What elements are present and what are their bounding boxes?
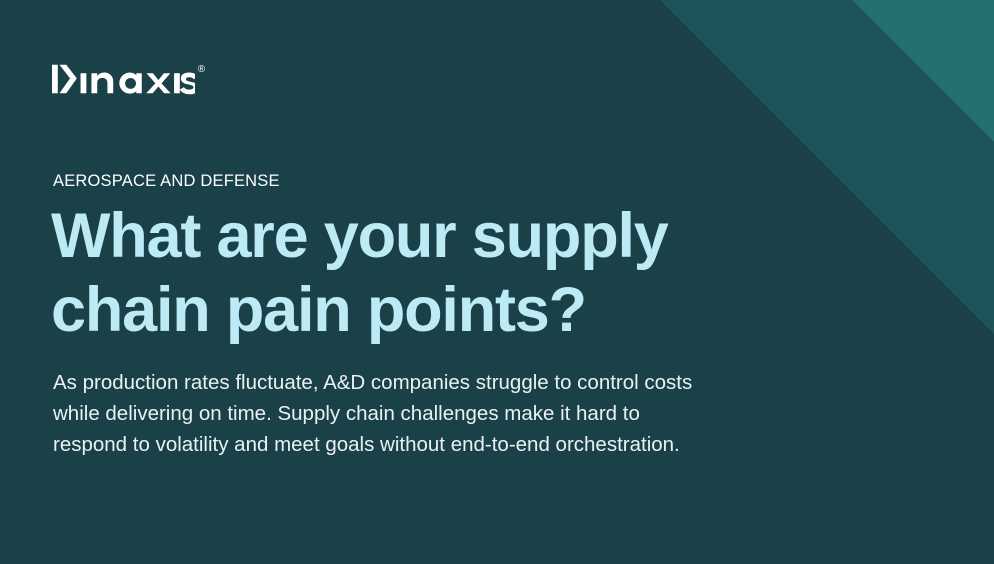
marketing-slide: ® AEROSPACE AND DEFENSE What are your su… <box>0 0 994 564</box>
page-title: What are your supply chain pain points? <box>51 199 731 347</box>
kinaxis-wordmark-logo <box>52 62 195 96</box>
eyebrow-label: AEROSPACE AND DEFENSE <box>53 172 280 191</box>
registered-trademark-icon: ® <box>198 65 205 75</box>
body-paragraph: As production rates fluctuate, A&D compa… <box>53 367 703 460</box>
slide-content: ® AEROSPACE AND DEFENSE What are your su… <box>0 0 994 564</box>
brand-logo: ® <box>52 62 205 102</box>
